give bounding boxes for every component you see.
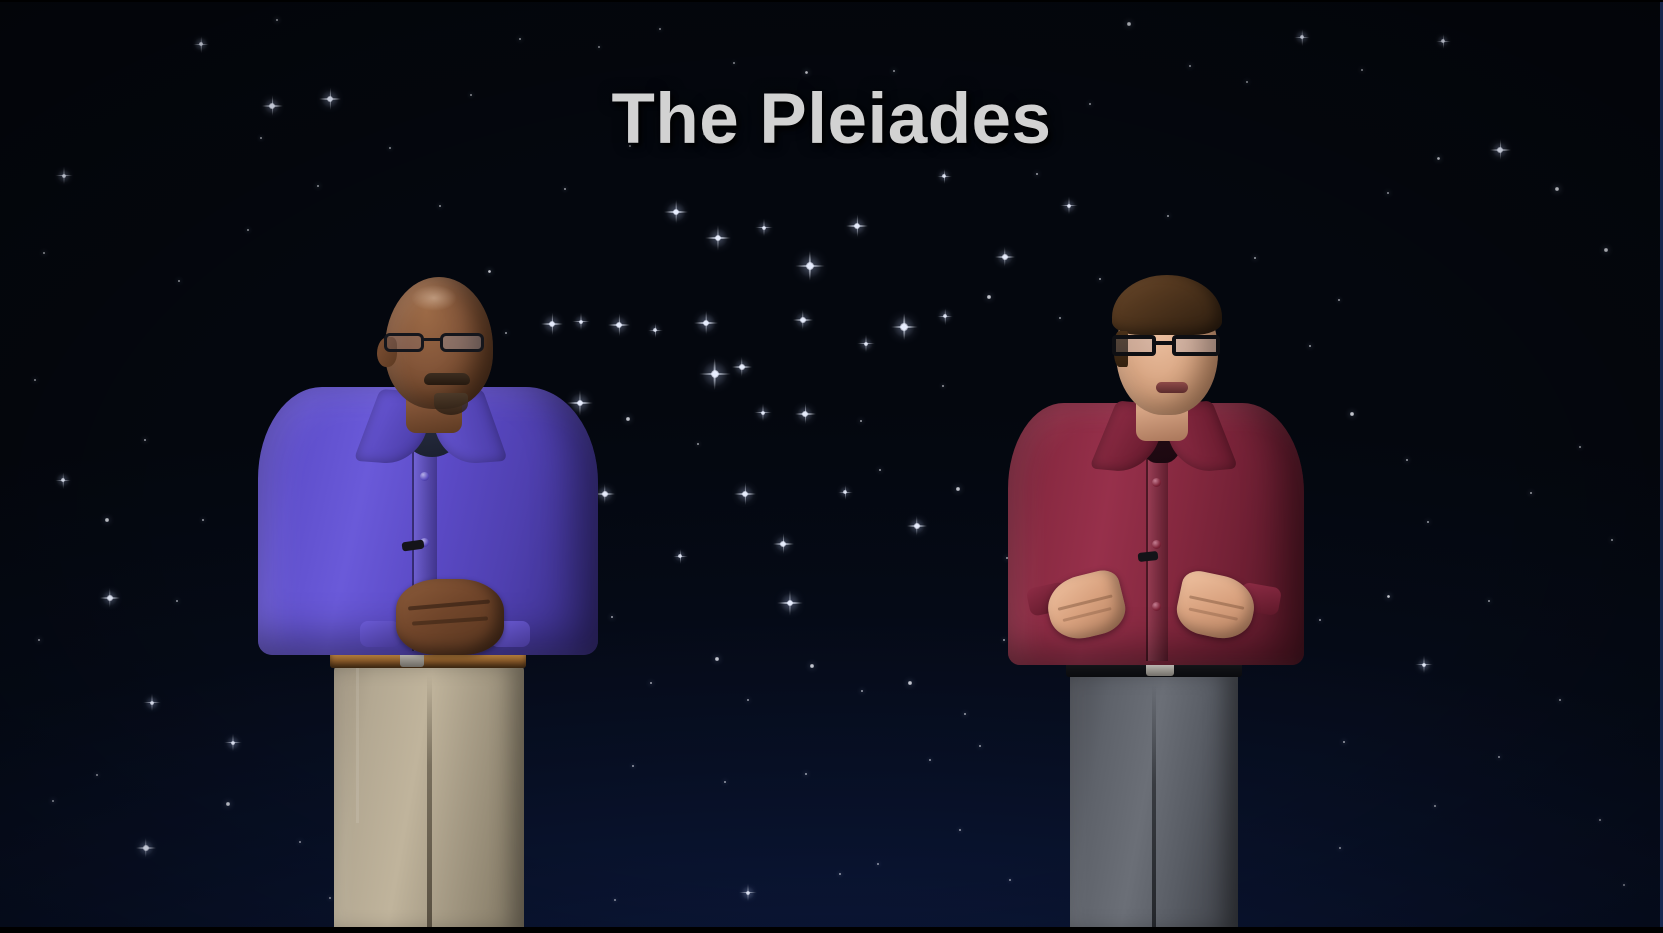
presenter-right bbox=[1000, 253, 1310, 933]
star bbox=[1579, 446, 1581, 448]
star-glow bbox=[1417, 658, 1431, 672]
star-glow bbox=[859, 337, 873, 351]
star bbox=[860, 420, 863, 423]
star bbox=[805, 773, 808, 776]
star-glow bbox=[145, 696, 159, 710]
star-glow bbox=[708, 228, 728, 248]
star-glow bbox=[736, 485, 754, 503]
star bbox=[144, 439, 147, 442]
presenter-left-cuff bbox=[360, 621, 400, 647]
star bbox=[1555, 187, 1559, 191]
star bbox=[1361, 69, 1364, 72]
star-glow bbox=[1295, 30, 1308, 43]
star bbox=[38, 639, 41, 642]
eyeglass-lens-icon bbox=[1112, 335, 1156, 356]
star bbox=[564, 188, 566, 190]
star bbox=[519, 38, 522, 41]
star-glow bbox=[797, 406, 814, 423]
star bbox=[1167, 215, 1170, 218]
eyeglass-lens-icon bbox=[384, 333, 424, 352]
star-glow bbox=[1437, 35, 1449, 47]
star-glow bbox=[795, 312, 811, 328]
star bbox=[959, 829, 961, 831]
star-glow bbox=[649, 324, 661, 336]
page-title: The Pleiades bbox=[0, 84, 1663, 155]
presenter-left-eyeglasses bbox=[384, 331, 490, 355]
star bbox=[650, 682, 653, 685]
star bbox=[747, 699, 750, 702]
star bbox=[1387, 192, 1390, 195]
star bbox=[697, 443, 699, 445]
star-glow bbox=[56, 473, 69, 486]
star-glow bbox=[938, 309, 951, 322]
video-frame: The Pleiades bbox=[0, 0, 1663, 933]
star bbox=[1343, 741, 1346, 744]
star bbox=[1406, 459, 1409, 462]
star bbox=[439, 205, 442, 208]
star bbox=[598, 46, 600, 48]
star bbox=[839, 873, 841, 875]
presenter-left-clasped-hands bbox=[396, 579, 504, 655]
star-glow bbox=[893, 316, 915, 338]
presenter-left-goatee bbox=[434, 393, 468, 415]
eyeglass-bridge-icon bbox=[1156, 341, 1172, 345]
star-glow bbox=[839, 486, 851, 498]
star bbox=[1339, 847, 1342, 850]
star bbox=[877, 863, 879, 865]
star-glow bbox=[775, 536, 792, 553]
star-glow bbox=[702, 361, 727, 386]
star-glow bbox=[909, 518, 925, 534]
star bbox=[1488, 600, 1491, 603]
star bbox=[178, 280, 181, 283]
star-glow bbox=[666, 202, 685, 221]
star bbox=[1036, 173, 1039, 176]
star-glow bbox=[102, 590, 118, 606]
star-glow bbox=[138, 840, 154, 856]
star-glow bbox=[610, 316, 628, 334]
star-glow bbox=[1062, 199, 1076, 213]
star bbox=[317, 185, 320, 188]
star bbox=[276, 19, 279, 22]
star bbox=[987, 295, 990, 298]
star-glow bbox=[57, 169, 71, 183]
star bbox=[43, 252, 46, 255]
star bbox=[1498, 756, 1501, 759]
star-glow bbox=[734, 359, 750, 375]
star-glow bbox=[798, 254, 822, 278]
presenter-left-mustache bbox=[424, 373, 470, 385]
star bbox=[1127, 22, 1130, 25]
star-glow bbox=[741, 886, 755, 900]
letterbox-top bbox=[0, 0, 1663, 2]
star bbox=[733, 62, 735, 64]
star bbox=[879, 469, 882, 472]
star bbox=[1530, 492, 1533, 495]
star bbox=[942, 385, 944, 387]
star-glow bbox=[226, 736, 240, 750]
presenter-right-mouth bbox=[1156, 382, 1188, 393]
star bbox=[1623, 884, 1625, 886]
star bbox=[1350, 412, 1353, 415]
presenter-right-shirt-button bbox=[1152, 540, 1161, 549]
presenter-left bbox=[248, 263, 608, 933]
star bbox=[176, 600, 179, 603]
star bbox=[1338, 299, 1340, 301]
star bbox=[247, 229, 249, 231]
eyeglass-lens-icon bbox=[1172, 335, 1220, 356]
star bbox=[96, 774, 98, 776]
star bbox=[1427, 521, 1430, 524]
star bbox=[893, 70, 896, 73]
star-glow bbox=[848, 217, 866, 235]
star bbox=[614, 899, 616, 901]
star bbox=[202, 519, 204, 521]
presenter-right-shirt-button bbox=[1152, 478, 1161, 487]
presenter-left-shirt-button bbox=[420, 472, 429, 481]
star bbox=[1387, 595, 1390, 598]
star bbox=[805, 71, 808, 74]
star-glow bbox=[780, 593, 800, 613]
star-glow bbox=[674, 550, 686, 562]
star bbox=[632, 765, 634, 767]
star bbox=[810, 664, 813, 667]
star bbox=[724, 781, 727, 784]
star bbox=[52, 800, 55, 803]
presenter-right-hair bbox=[1112, 275, 1222, 335]
star bbox=[226, 802, 229, 805]
presenter-right-eyeglasses bbox=[1112, 333, 1222, 359]
star-glow bbox=[756, 406, 770, 420]
star bbox=[611, 616, 614, 619]
presenter-right-shirt-button bbox=[1152, 602, 1161, 611]
star-glow bbox=[194, 37, 207, 50]
star bbox=[929, 759, 931, 761]
star bbox=[659, 28, 661, 30]
star bbox=[1559, 699, 1562, 702]
star bbox=[1189, 65, 1192, 68]
star bbox=[1611, 539, 1614, 542]
eyeglass-lens-icon bbox=[440, 333, 484, 352]
star bbox=[715, 657, 718, 660]
star bbox=[1434, 805, 1436, 807]
star bbox=[908, 681, 911, 684]
star bbox=[1319, 619, 1322, 622]
letterbox-bottom bbox=[0, 927, 1663, 933]
star bbox=[1437, 157, 1440, 160]
star bbox=[979, 745, 982, 748]
star bbox=[105, 518, 108, 521]
star bbox=[1246, 81, 1249, 84]
star bbox=[861, 690, 864, 693]
star-glow bbox=[696, 313, 715, 332]
star bbox=[1599, 819, 1601, 821]
star bbox=[964, 713, 967, 716]
star-glow bbox=[757, 221, 771, 235]
star bbox=[956, 487, 959, 490]
presenter-left-trousers bbox=[334, 663, 524, 933]
star bbox=[34, 379, 37, 382]
star-glow bbox=[938, 170, 950, 182]
presenter-right-trousers bbox=[1070, 671, 1238, 933]
star bbox=[626, 417, 629, 420]
star bbox=[1604, 248, 1607, 251]
